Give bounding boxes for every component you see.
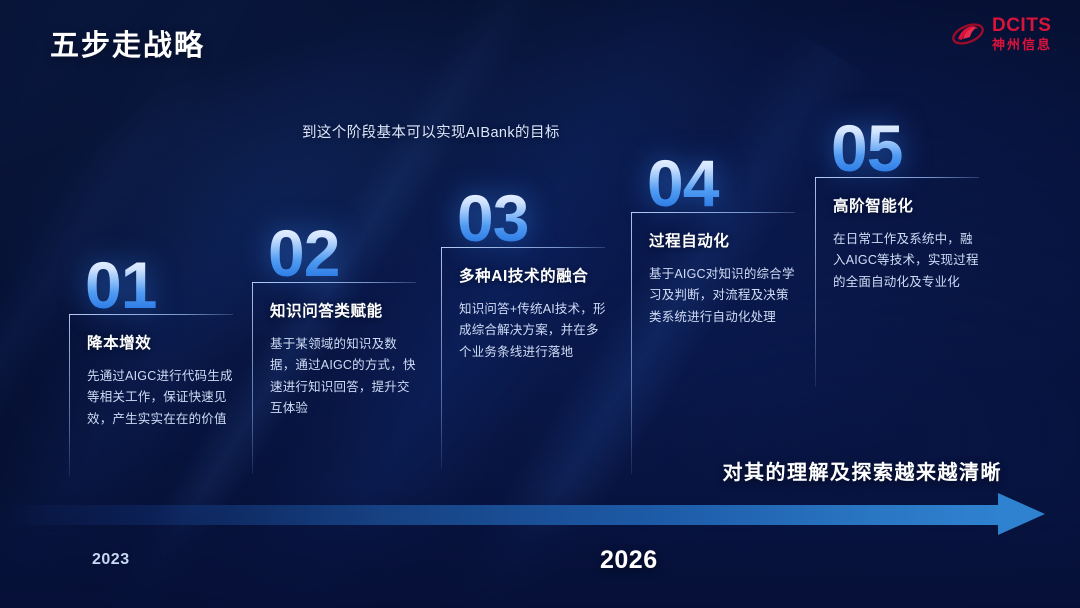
step-02-title: 知识问答类赋能	[270, 299, 422, 321]
step-02-bracket-top	[252, 282, 416, 283]
step-04-number: 04	[647, 153, 801, 214]
step-01-title: 降本增效	[87, 331, 239, 353]
step-04-bracket	[631, 212, 801, 213]
step-02-bracket	[252, 282, 422, 283]
step-03[interactable]: 03 多种AI技术的融合 知识问答+传统AI技术，形成综合解决方案，并在多个业务…	[441, 188, 611, 363]
logo-cn-text: 神州信息	[992, 38, 1052, 51]
step-04-bracket-top	[631, 212, 795, 213]
arrow-head-icon	[998, 493, 1045, 535]
step-04-bracket-left	[631, 212, 632, 474]
step-03-title: 多种AI技术的融合	[459, 264, 611, 286]
step-01-bracket	[69, 314, 239, 315]
logo-wordmark: DCITS 神州信息	[992, 16, 1052, 51]
step-03-bracket-left	[441, 247, 442, 469]
step-04-desc: 基于AIGC对知识的综合学习及判断，对流程及决策类系统进行自动化处理	[649, 264, 801, 329]
step-05-number: 05	[831, 118, 985, 179]
step-01-body: 降本增效 先通过AIGC进行代码生成等相关工作，保证快速见效，产生实实在在的价值	[69, 315, 239, 431]
step-02-bracket-left	[252, 282, 253, 474]
step-05-bracket-top	[815, 177, 979, 178]
logo-en-text: DCITS	[992, 16, 1052, 35]
step-03-number: 03	[457, 188, 611, 249]
step-05-desc: 在日常工作及系统中，融入AIGC等技术，实现过程的全面自动化及专业化	[833, 229, 985, 294]
arrow-tagline: 对其的理解及探索越来越清晰	[723, 456, 1003, 485]
step-02-body: 知识问答类赋能 基于某领域的知识及数据，通过AIGC的方式，快速进行知识回答，提…	[252, 283, 422, 420]
step-01[interactable]: 01 降本增效 先通过AIGC进行代码生成等相关工作，保证快速见效，产生实实在在…	[69, 255, 239, 430]
step-03-desc: 知识问答+传统AI技术，形成综合解决方案，并在多个业务条线进行落地	[459, 299, 611, 364]
step-04[interactable]: 04 过程自动化 基于AIGC对知识的综合学习及判断，对流程及决策类系统进行自动…	[631, 153, 801, 328]
step-01-number: 01	[85, 255, 239, 316]
step-04-body: 过程自动化 基于AIGC对知识的综合学习及判断，对流程及决策类系统进行自动化处理	[631, 213, 801, 329]
slide-canvas: 五步走战略 DCITS 神州信息 到这个阶段基本可以实现AIBank的目标 01…	[0, 0, 1080, 608]
aibank-note: 到这个阶段基本可以实现AIBank的目标	[302, 121, 560, 142]
step-05-bracket	[815, 177, 985, 178]
step-03-bracket-top	[441, 247, 605, 248]
step-05[interactable]: 05 高阶智能化 在日常工作及系统中，融入AIGC等技术，实现过程的全面自动化及…	[815, 118, 985, 293]
step-02-desc: 基于某领域的知识及数据，通过AIGC的方式，快速进行知识回答，提升交互体验	[270, 334, 422, 420]
step-03-bracket	[441, 247, 611, 248]
dcits-swirl-icon	[951, 18, 985, 50]
step-03-body: 多种AI技术的融合 知识问答+传统AI技术，形成综合解决方案，并在多个业务条线进…	[441, 248, 611, 364]
year-end-label: 2026	[600, 546, 658, 575]
step-02-number: 02	[268, 223, 422, 284]
step-04-title: 过程自动化	[649, 229, 801, 251]
arrow-shaft	[0, 505, 1002, 525]
page-title: 五步走战略	[50, 22, 205, 64]
step-05-body: 高阶智能化 在日常工作及系统中，融入AIGC等技术，实现过程的全面自动化及专业化	[815, 178, 985, 294]
brand-logo: DCITS 神州信息	[951, 16, 1052, 51]
timeline-arrow	[0, 493, 1080, 535]
step-01-desc: 先通过AIGC进行代码生成等相关工作，保证快速见效，产生实实在在的价值	[87, 366, 239, 431]
step-01-bracket-left	[69, 314, 70, 476]
step-05-bracket-left	[815, 177, 816, 387]
step-02[interactable]: 02 知识问答类赋能 基于某领域的知识及数据，通过AIGC的方式，快速进行知识回…	[252, 223, 422, 420]
year-start-label: 2023	[92, 551, 130, 569]
step-01-bracket-top	[69, 314, 233, 315]
step-05-title: 高阶智能化	[833, 194, 985, 216]
